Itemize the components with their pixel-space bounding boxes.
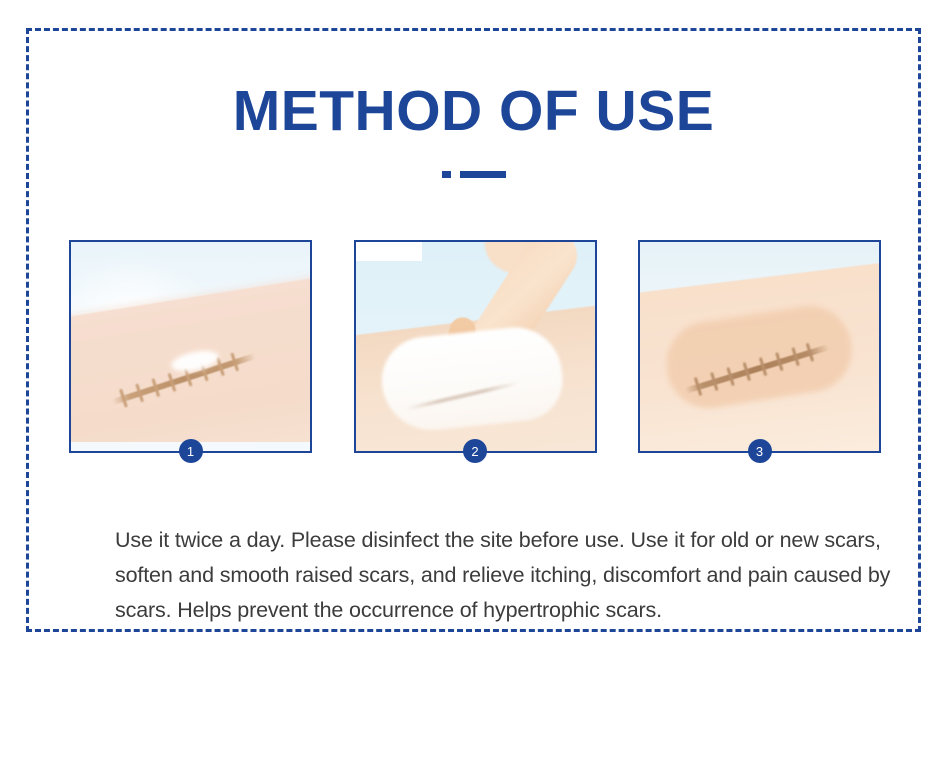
- step-badge-3: 3: [748, 439, 772, 463]
- usage-description: Use it twice a day. Please disinfect the…: [115, 523, 905, 628]
- step-badge-2: 2: [463, 439, 487, 463]
- divider-dot-icon: [442, 171, 451, 178]
- step-badge-1: 1: [179, 439, 203, 463]
- step-image-1: [71, 242, 310, 451]
- divider-bar-icon: [460, 171, 506, 178]
- title-divider: [29, 171, 918, 178]
- step-figure-1: 1: [69, 240, 312, 453]
- step-figure-3: 3: [638, 240, 881, 453]
- background-corner-patch: [356, 242, 422, 261]
- method-of-use-panel: METHOD OF USE: [26, 28, 921, 632]
- step-image-2: [356, 242, 595, 451]
- step-image-3: [640, 242, 879, 451]
- steps-image-row: 1 2: [69, 240, 881, 476]
- step-figure-2: 2: [354, 240, 597, 453]
- page-title: METHOD OF USE: [29, 83, 918, 140]
